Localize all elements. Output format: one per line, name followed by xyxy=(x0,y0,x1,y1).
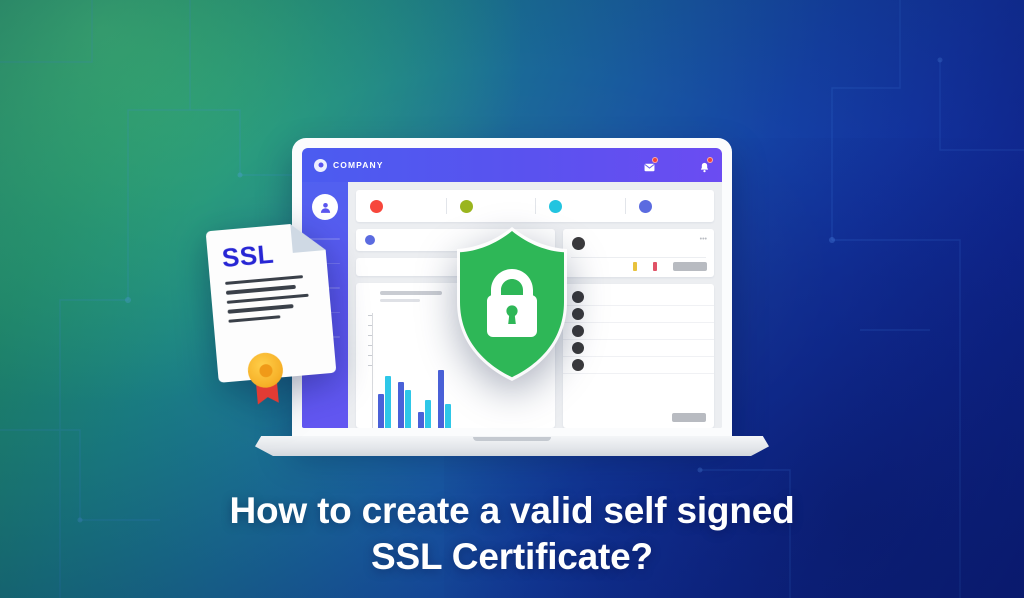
brand-logo: COMPANY xyxy=(314,159,384,172)
list-item[interactable] xyxy=(563,357,714,374)
laptop-trackpad-notch xyxy=(473,437,551,441)
company-logo-icon xyxy=(314,159,327,172)
bell-icon[interactable] xyxy=(699,160,710,171)
dashboard-topbar: COMPANY xyxy=(302,148,722,182)
ssl-certificate-document: SSL xyxy=(206,221,337,383)
status-icon-yellow xyxy=(633,262,637,271)
list-item[interactable] xyxy=(563,306,714,323)
kpi-red-icon xyxy=(370,200,383,213)
doc-line-5 xyxy=(228,315,280,323)
kpi-indigo-icon xyxy=(639,200,652,213)
kpi-summary-row xyxy=(356,190,714,222)
bar-a-3 xyxy=(418,412,424,428)
bar-a-1 xyxy=(378,394,384,428)
security-shield-icon xyxy=(447,224,577,384)
card-divider xyxy=(571,257,706,258)
action-pill-button[interactable] xyxy=(673,262,707,271)
card-footer xyxy=(563,262,707,271)
doc-line-3 xyxy=(227,293,309,304)
kpi-card-indigo[interactable] xyxy=(625,190,715,222)
chart-y-axis xyxy=(364,309,374,428)
bar-b-2 xyxy=(405,390,411,428)
kpi-card-cyan[interactable] xyxy=(535,190,625,222)
kpi-card-olive[interactable] xyxy=(446,190,536,222)
doc-line-2 xyxy=(226,285,296,294)
load-more-pill-button[interactable] xyxy=(672,413,706,422)
contact-header-card[interactable]: ••• xyxy=(563,229,714,277)
list-footer xyxy=(563,413,714,428)
bell-badge xyxy=(707,157,713,163)
sidebar-user-avatar[interactable] xyxy=(312,194,338,220)
bar-a-4 xyxy=(438,370,444,428)
chart-title-placeholder xyxy=(380,291,442,295)
kpi-card-red[interactable] xyxy=(356,190,446,222)
document-title: SSL xyxy=(221,239,276,274)
page-title: How to create a valid self signed SSL Ce… xyxy=(0,488,1024,580)
bar-b-3 xyxy=(425,400,431,428)
bar-group-1 xyxy=(378,376,391,428)
chart-subtitle-placeholder xyxy=(380,299,420,302)
bar-group-3 xyxy=(418,400,431,428)
kpi-olive-icon xyxy=(460,200,473,213)
bar-group-2 xyxy=(398,382,411,428)
status-icon-red xyxy=(653,262,657,271)
list-item[interactable] xyxy=(563,340,714,357)
contact-list-card xyxy=(563,284,714,428)
bar-b-1 xyxy=(385,376,391,428)
headline-line-1: How to create a valid self signed xyxy=(229,490,794,531)
topbar-icon-group xyxy=(644,160,710,171)
bar-a-2 xyxy=(398,382,404,428)
certificate-seal-icon xyxy=(244,351,287,394)
summary-dot-icon xyxy=(365,235,375,245)
more-options-icon[interactable]: ••• xyxy=(700,237,707,243)
dashboard-right-column: ••• xyxy=(563,229,714,428)
list-item[interactable] xyxy=(563,323,714,340)
headline-line-2: SSL Certificate? xyxy=(0,534,1024,580)
document-text-lines xyxy=(225,274,320,329)
bar-b-4 xyxy=(445,404,451,428)
list-item[interactable] xyxy=(563,289,714,306)
mail-icon[interactable] xyxy=(644,160,655,171)
mail-badge xyxy=(652,157,658,163)
poster-canvas: COMPANY xyxy=(0,0,1024,598)
seal-rosette xyxy=(246,351,284,389)
brand-name: COMPANY xyxy=(333,160,384,170)
doc-line-4 xyxy=(228,304,294,313)
kpi-cyan-icon xyxy=(549,200,562,213)
